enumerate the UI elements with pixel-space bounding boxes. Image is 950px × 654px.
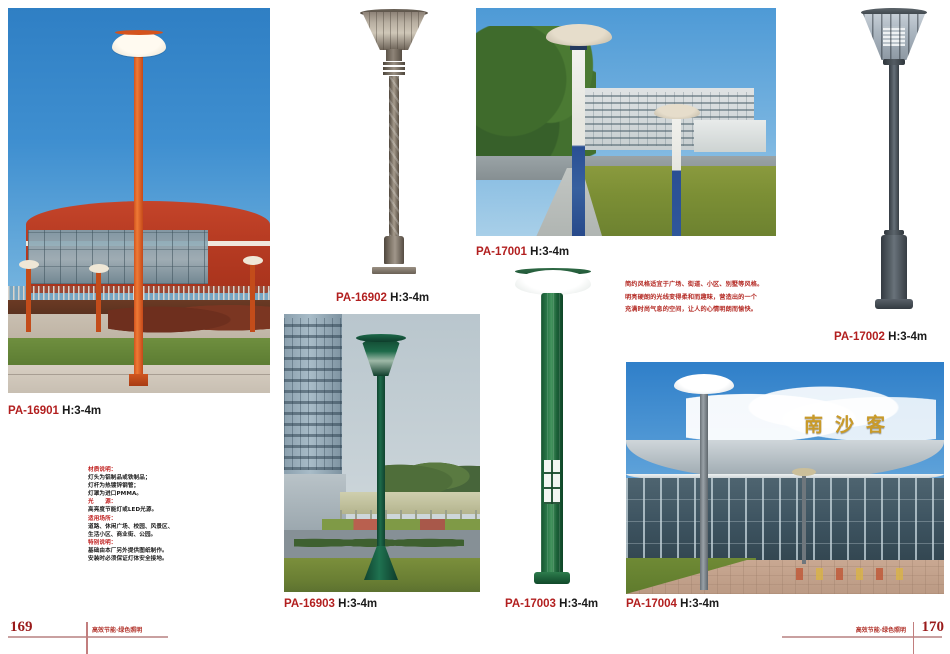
background-lamp-dish xyxy=(792,468,816,476)
pole-collar xyxy=(383,72,405,75)
description-line: 简约风格适宜于广场、街道、小区、别墅等风格。 xyxy=(625,279,810,292)
product-height: H:3-4m xyxy=(338,598,377,610)
glass-mullion-grid xyxy=(28,230,208,284)
product-label-pa-17002: PA-17002 H:3-4m xyxy=(834,331,927,343)
secondary-lamp-pole xyxy=(672,118,681,236)
footer-divider xyxy=(86,622,88,654)
style-description-paragraph: 简约风格适宜于广场、街道、小区、别墅等风格。 明亮硬朗的光线变得柔和而趣味，营造… xyxy=(625,279,810,317)
footer-rule xyxy=(8,636,168,638)
spec-note-heading: 特别说明： xyxy=(88,539,216,547)
main-lamp-pole xyxy=(572,46,585,236)
product-photo-pa-17003 xyxy=(500,262,604,592)
shade-ribs xyxy=(362,12,426,50)
base-plate xyxy=(534,572,570,584)
sign-char-2: 沙 xyxy=(835,410,854,437)
sign-char-1: 南 xyxy=(804,410,823,437)
product-label-pa-16902: PA-16902 H:3-4m xyxy=(336,292,429,304)
left-page-footer: 169 高效节能·绿色照明 xyxy=(0,610,200,654)
pole-collar xyxy=(383,67,405,70)
product-photo-pa-17001 xyxy=(476,8,776,236)
grey-lamp-dish-shade xyxy=(674,374,734,394)
spec-application-line: 道路、休闲广场、校园、风景区、 xyxy=(88,523,216,531)
product-code: PA-16901 xyxy=(8,405,59,417)
background-lamp-dish xyxy=(89,264,109,273)
secondary-lamp-dish xyxy=(654,104,700,119)
product-photo-pa-16903 xyxy=(284,314,480,592)
spec-note-line: 安装时必须保证灯体安全接地。 xyxy=(88,555,216,563)
pole-base-column xyxy=(384,236,404,264)
product-code: PA-17001 xyxy=(476,246,527,258)
shade-ribs xyxy=(863,14,925,60)
red-shrub-clusters xyxy=(108,298,270,334)
orange-lamp-pole xyxy=(134,54,143,384)
spec-light-source-heading: 光 源： xyxy=(88,498,216,506)
illuminated-window-grille xyxy=(544,460,560,504)
green-lamp-cap xyxy=(356,334,406,342)
main-lamp-dish xyxy=(546,24,612,46)
lamp-neck xyxy=(386,49,402,61)
product-height: H:3-4m xyxy=(390,292,429,304)
spec-material-line: 灯杆为热镀锌钢管； xyxy=(88,482,216,490)
product-code: PA-17004 xyxy=(626,598,677,610)
pole-base-column xyxy=(881,235,907,301)
product-height: H:3-4m xyxy=(530,246,569,258)
colored-paving-pattern xyxy=(796,568,906,580)
right-page-footer: 高效节能·绿色照明 170 xyxy=(750,610,950,654)
product-label-pa-17004: PA-17004 H:3-4m xyxy=(626,598,719,610)
tower-window-grid xyxy=(284,318,342,470)
description-line: 充满时尚气息的空间，让人的心情明朗而愉快。 xyxy=(625,304,810,317)
description-line: 明亮硬朗的光线变得柔和而趣味，营造出的一个 xyxy=(625,292,810,305)
product-height: H:3-4m xyxy=(888,331,927,343)
product-label-pa-17003: PA-17003 H:3-4m xyxy=(505,598,598,610)
product-label-pa-16903: PA-16903 H:3-4m xyxy=(284,598,377,610)
product-photo-pa-17004: 南 沙 客 xyxy=(626,362,944,594)
spec-material-heading: 材质说明： xyxy=(88,466,216,474)
spec-application-line: 生活小区、商业街、公园。 xyxy=(88,531,216,539)
footer-slogan-right: 高效节能·绿色照明 xyxy=(856,625,906,634)
footer-rule xyxy=(782,636,942,638)
spec-application-heading: 适用场所： xyxy=(88,515,216,523)
base-plate xyxy=(875,299,913,309)
page-number-right: 170 xyxy=(922,619,945,636)
white-dish-shade xyxy=(515,270,591,295)
background-lamp-dish xyxy=(243,256,263,265)
pole-collar xyxy=(383,62,405,65)
product-code: PA-16902 xyxy=(336,292,387,304)
product-height: H:3-4m xyxy=(680,598,719,610)
product-photo-pa-17002 xyxy=(843,2,947,320)
background-lamp-pole xyxy=(802,474,806,564)
sign-char-3: 客 xyxy=(866,410,885,437)
spec-material-line: 灯头为铝制品或铁制品； xyxy=(88,474,216,482)
product-label-pa-16901: PA-16901 H:3-4m xyxy=(8,405,101,417)
facade-mullions xyxy=(626,478,944,566)
specification-text-block: 材质说明： 灯头为铝制品或铁制品； 灯杆为热镀锌钢管； 灯罩为进口PMMA。 光… xyxy=(88,466,216,563)
orange-lamp-dish-shade xyxy=(112,32,166,57)
background-lamp-dish xyxy=(19,260,39,269)
page-number-left: 169 xyxy=(10,619,33,636)
terminal-sign: 南 沙 客 xyxy=(804,408,944,438)
catalog-page-spread: PA-16901 H:3-4m PA-16902 H:3-4m xyxy=(0,0,950,654)
product-code: PA-17002 xyxy=(834,331,885,343)
pole-twist-pattern xyxy=(389,76,399,236)
grey-lamp-pole xyxy=(700,394,708,590)
pole-ribbing xyxy=(541,293,563,581)
spec-material-line: 灯罩为进口PMMA。 xyxy=(88,490,216,498)
green-lamp-pole xyxy=(377,376,385,568)
low-building xyxy=(694,120,766,152)
background-lamp-pole xyxy=(250,262,255,332)
product-photo-pa-16901 xyxy=(8,8,270,393)
footer-divider xyxy=(913,622,915,654)
product-photo-pa-16902 xyxy=(336,4,452,282)
product-height: H:3-4m xyxy=(559,598,598,610)
background-lamp-pole xyxy=(96,270,101,332)
lamp-pole xyxy=(889,65,899,233)
product-code: PA-16903 xyxy=(284,598,335,610)
background-lamp-pole xyxy=(26,266,31,332)
orange-lamp-base xyxy=(129,374,148,386)
spec-light-source-line: 高亮度节能灯或LED光源。 xyxy=(88,506,216,514)
product-height: H:3-4m xyxy=(62,405,101,417)
product-label-pa-17001: PA-17001 H:3-4m xyxy=(476,246,569,258)
footer-slogan-left: 高效节能·绿色照明 xyxy=(92,625,142,634)
spec-note-line: 基础由本厂另外提供图纸制作。 xyxy=(88,547,216,555)
base-plate xyxy=(372,267,416,274)
product-code: PA-17003 xyxy=(505,598,556,610)
